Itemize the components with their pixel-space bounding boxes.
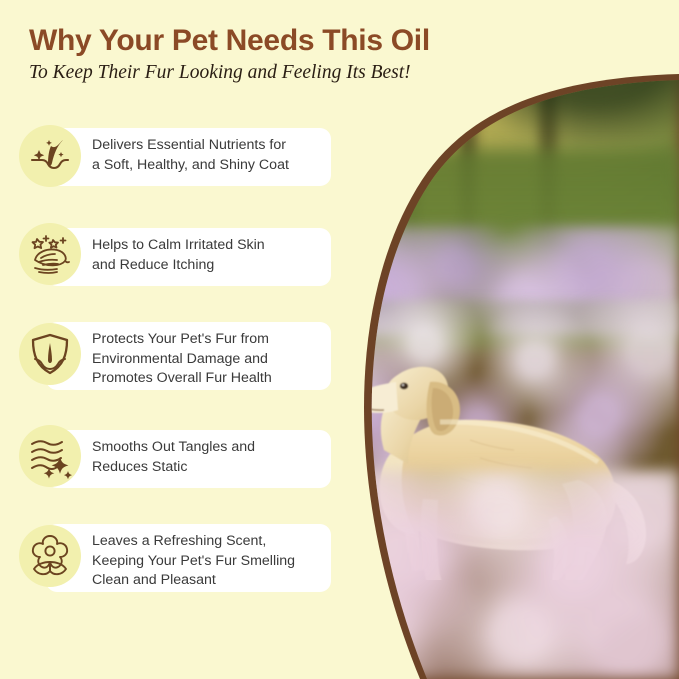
shield-follicle-icon [19, 323, 81, 385]
hair-follicle-sparkle-icon [19, 125, 81, 187]
photo-image [300, 0, 679, 679]
page-subtitle: To Keep Their Fur Looking and Feeling It… [29, 62, 411, 84]
photo-border [300, 0, 679, 679]
feature-text: Helps to Calm Irritated Skin and Reduce … [92, 236, 265, 275]
feature-text: Leaves a Refreshing Scent, Keeping Your … [92, 532, 295, 591]
photo-canopy-layer [450, 0, 679, 150]
page-title: Why Your Pet Needs This Oil [29, 24, 430, 58]
infographic-root: Why Your Pet Needs This Oil To Keep Thei… [0, 0, 679, 679]
photo-panel [300, 0, 679, 679]
smooth-waves-sparkle-icon [19, 425, 81, 487]
feature-text: Delivers Essential Nutrients for a Soft,… [92, 136, 289, 175]
photo-meadow-near-layer [300, 470, 679, 679]
flower-icon [19, 525, 81, 587]
feature-text: Smooths Out Tangles and Reduces Static [92, 438, 255, 477]
leaf-sparkle-icon [19, 223, 81, 285]
feature-text: Protects Your Pet's Fur from Environment… [92, 330, 272, 389]
